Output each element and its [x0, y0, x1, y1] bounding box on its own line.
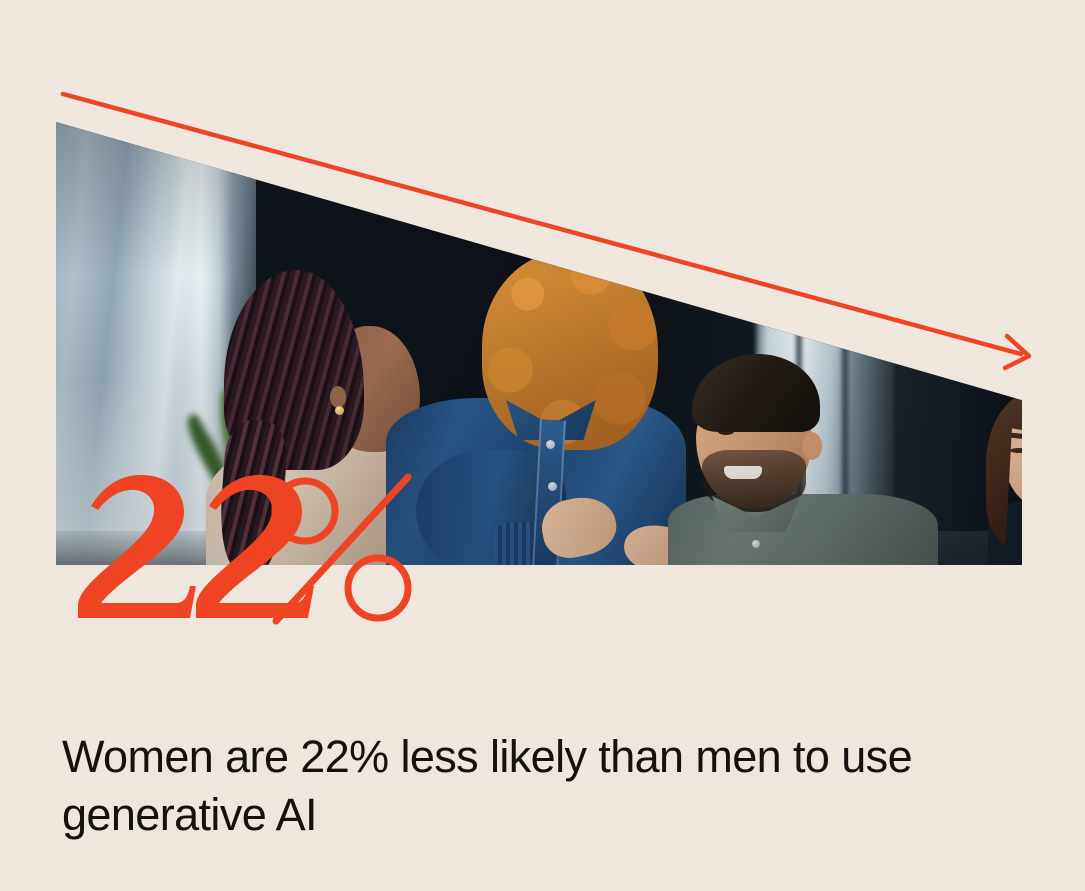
percent-circle-lower: [348, 558, 408, 618]
stat-card: Women are 22% less likely than men to us…: [0, 0, 1085, 891]
person-woman-dark-top: [986, 390, 1022, 565]
photo-frame: [56, 122, 1022, 565]
shirt-button: [546, 440, 555, 449]
pendant-lamp: [648, 122, 738, 312]
office-meeting-photo: [56, 122, 1022, 565]
shirt-button: [548, 482, 557, 491]
smile: [724, 466, 762, 479]
eye: [1010, 448, 1022, 453]
arrow-head: [1005, 336, 1029, 368]
ear: [802, 432, 822, 460]
ear: [330, 386, 346, 408]
hair: [692, 354, 820, 432]
green-shirt: [668, 494, 938, 565]
earring: [335, 406, 344, 415]
lamp-bulb: [682, 242, 702, 270]
page-title: Women are 22% less likely than men to us…: [62, 728, 992, 844]
lamp-cord: [692, 122, 695, 188]
lamp-shade: [662, 182, 724, 258]
shirt-button: [752, 540, 760, 548]
person-woman-curly-hair-denim: [386, 250, 686, 565]
person-man-green-shirt: [668, 354, 938, 565]
